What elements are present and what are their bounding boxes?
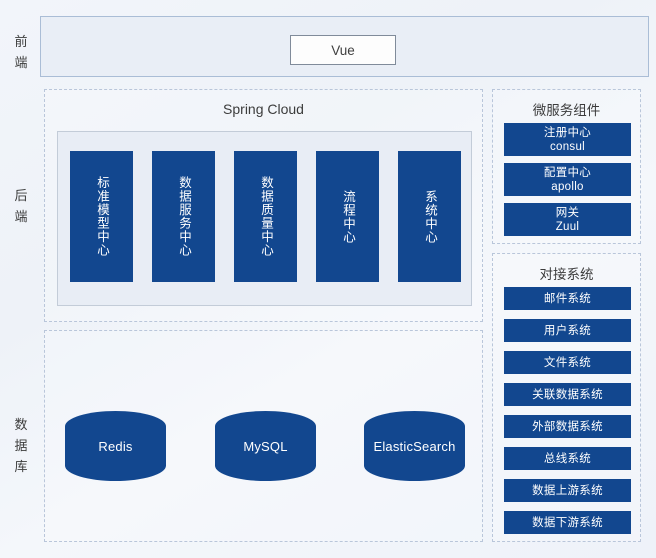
integration-systems-title: 对接系统	[493, 263, 640, 283]
service-box-label: 流程中心	[339, 190, 356, 244]
microservice-item-label: 配置中心	[544, 166, 591, 180]
integration-item-downstream-data-system[interactable]: 数据下游系统	[504, 511, 631, 534]
database-cylinder-label: ElasticSearch	[373, 439, 455, 454]
integration-item-upstream-data-system[interactable]: 数据上游系统	[504, 479, 631, 502]
integration-item-label: 数据下游系统	[532, 516, 603, 530]
row-label-frontend-char-1: 前	[2, 31, 40, 52]
microservice-item-sublabel: Zuul	[556, 220, 580, 234]
integration-item-email-system[interactable]: 邮件系统	[504, 287, 631, 310]
microservice-components-title: 微服务组件	[493, 99, 640, 119]
row-label-database-char-1: 数	[2, 414, 40, 435]
service-box-data-service-center[interactable]: 数据服务中心	[152, 151, 215, 282]
spring-cloud-title: Spring Cloud	[45, 101, 482, 117]
integration-item-label: 文件系统	[544, 356, 591, 370]
microservice-item-sublabel: apollo	[551, 180, 584, 194]
integration-systems-list: 邮件系统 用户系统 文件系统 关联数据系统 外部数据系统 总线系统 数据上游系统…	[504, 287, 631, 543]
integration-item-label: 总线系统	[544, 452, 591, 466]
row-label-backend-char-2: 端	[2, 206, 40, 227]
frontend-vue-label: Vue	[331, 43, 355, 58]
microservice-item-sublabel: consul	[550, 140, 585, 154]
service-box-process-center[interactable]: 流程中心	[316, 151, 379, 282]
service-box-data-quality-center[interactable]: 数据质量中心	[234, 151, 297, 282]
service-box-label: 数据服务中心	[175, 176, 192, 257]
microservice-item-gateway[interactable]: 网关 Zuul	[504, 203, 631, 236]
microservice-components-panel: 微服务组件 注册中心 consul 配置中心 apollo 网关 Zuul	[492, 89, 641, 244]
database-cylinder-mysql[interactable]: MySQL	[215, 411, 316, 481]
microservice-item-label: 网关	[556, 206, 580, 220]
integration-item-label: 数据上游系统	[532, 484, 603, 498]
database-cylinder-redis[interactable]: Redis	[65, 411, 166, 481]
integration-systems-panel: 对接系统 邮件系统 用户系统 文件系统 关联数据系统 外部数据系统 总线系统 数…	[492, 253, 641, 542]
integration-item-related-data-system[interactable]: 关联数据系统	[504, 383, 631, 406]
frontend-vue-box[interactable]: Vue	[290, 35, 396, 65]
integration-item-label: 邮件系统	[544, 292, 591, 306]
service-box-label: 数据质量中心	[257, 176, 274, 257]
service-box-label: 系统中心	[421, 190, 438, 244]
microservice-item-registry-center[interactable]: 注册中心 consul	[504, 123, 631, 156]
integration-item-external-data-system[interactable]: 外部数据系统	[504, 415, 631, 438]
integration-item-label: 用户系统	[544, 324, 591, 338]
row-label-frontend: 前 端	[2, 31, 40, 73]
architecture-diagram: 前 端 后 端 数 据 库 Vue Spring Cloud 标准模型中心 数据…	[0, 0, 656, 558]
integration-item-user-system[interactable]: 用户系统	[504, 319, 631, 342]
row-label-database-char-3: 库	[2, 456, 40, 477]
database-cylinder-label: Redis	[98, 439, 132, 454]
database-cylinder-label: MySQL	[243, 439, 287, 454]
integration-item-label: 外部数据系统	[532, 420, 603, 434]
service-box-standard-model-center[interactable]: 标准模型中心	[70, 151, 133, 282]
integration-item-bus-system[interactable]: 总线系统	[504, 447, 631, 470]
row-label-database-char-2: 据	[2, 435, 40, 456]
row-label-backend-char-1: 后	[2, 185, 40, 206]
service-box-label: 标准模型中心	[93, 176, 110, 257]
microservice-components-list: 注册中心 consul 配置中心 apollo 网关 Zuul	[504, 123, 631, 243]
row-label-backend: 后 端	[2, 185, 40, 227]
integration-item-label: 关联数据系统	[532, 388, 603, 402]
service-box-system-center[interactable]: 系统中心	[398, 151, 461, 282]
database-cylinder-elasticsearch[interactable]: ElasticSearch	[364, 411, 465, 481]
row-label-database: 数 据 库	[2, 414, 40, 477]
microservice-item-config-center[interactable]: 配置中心 apollo	[504, 163, 631, 196]
integration-item-file-system[interactable]: 文件系统	[504, 351, 631, 374]
microservice-item-label: 注册中心	[544, 126, 591, 140]
row-label-frontend-char-2: 端	[2, 52, 40, 73]
